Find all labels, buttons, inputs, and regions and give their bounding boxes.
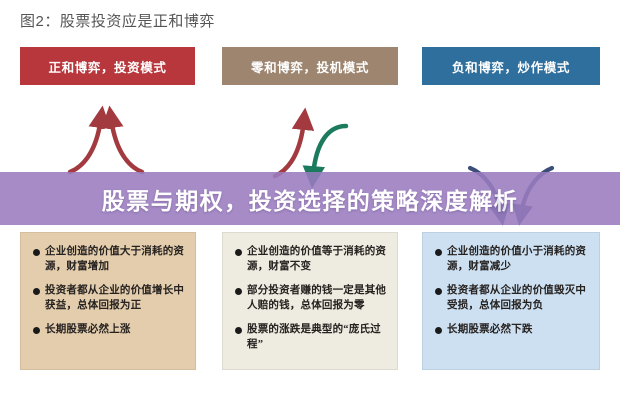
bullet-text: 投资者都从企业的价值毁灭中受损，总体回报为负	[447, 284, 589, 314]
list-item: 企业创造的价值等于消耗的资源，财富不变	[235, 245, 387, 275]
list-item: 长期股票必然下跌	[435, 323, 589, 338]
bullet-text: 部分投资者赚的钱一定是其他人赔的钱，总体回报为零	[247, 284, 387, 314]
figure-caption: 图2：股票投资应是正和博弈	[20, 10, 215, 31]
bullet-dot-icon	[235, 249, 242, 256]
figure-root: 图2：股票投资应是正和博弈 正和博弈，投资模式 零和博弈，投机模式 负和博弈，炒…	[0, 0, 620, 400]
bullet-dot-icon	[435, 327, 442, 334]
bullet-dot-icon	[435, 249, 442, 256]
bullet-text: 长期股票必然下跌	[447, 323, 533, 338]
bullet-text: 企业创造的价值小于消耗的资源，财富减少	[447, 245, 589, 275]
mode-header-label: 零和博弈，投机模式	[251, 57, 369, 76]
list-item: 长期股票必然上涨	[33, 323, 185, 338]
bullet-text: 长期股票必然上涨	[45, 323, 131, 338]
bullet-text: 股票的涨跌是典型的“庞氏过程”	[247, 323, 387, 353]
list-item: 投资者都从企业的价值毁灭中受损，总体回报为负	[435, 284, 589, 314]
bullet-text: 企业创造的价值大于消耗的资源，财富增加	[45, 245, 185, 275]
detail-panel-positive-sum: 企业创造的价值大于消耗的资源，财富增加 投资者都从企业的价值增长中获益，总体回报…	[20, 232, 196, 370]
mode-header-negative-sum[interactable]: 负和博弈，炒作模式	[422, 47, 600, 85]
bullet-text: 企业创造的价值等于消耗的资源，财富不变	[247, 245, 387, 275]
list-item: 部分投资者赚的钱一定是其他人赔的钱，总体回报为零	[235, 284, 387, 314]
arrow-up-icon	[70, 118, 101, 172]
detail-panel-zero-sum: 企业创造的价值等于消耗的资源，财富不变 部分投资者赚的钱一定是其他人赔的钱，总体…	[222, 232, 398, 370]
list-item: 投资者都从企业的价值增长中获益，总体回报为正	[33, 284, 185, 314]
mode-header-label: 正和博弈，投资模式	[49, 57, 167, 76]
overlay-title-text: 股票与期权，投资选择的策略深度解析	[102, 182, 519, 216]
list-item: 企业创造的价值大于消耗的资源，财富增加	[33, 245, 185, 275]
overlay-title-banner: 股票与期权，投资选择的策略深度解析	[0, 172, 620, 225]
arrow-down-icon	[313, 126, 346, 176]
bullet-dot-icon	[235, 327, 242, 334]
bullet-dot-icon	[235, 288, 242, 295]
bullet-text: 投资者都从企业的价值增长中获益，总体回报为正	[45, 284, 185, 314]
arrow-group-zero-sum	[275, 120, 346, 176]
mode-header-zero-sum[interactable]: 零和博弈，投机模式	[222, 47, 398, 85]
arrow-up-icon	[275, 120, 304, 176]
list-item: 企业创造的价值小于消耗的资源，财富减少	[435, 245, 589, 275]
bullet-dot-icon	[33, 249, 40, 256]
list-item: 股票的涨跌是典型的“庞氏过程”	[235, 323, 387, 353]
mode-header-label: 负和博弈，炒作模式	[452, 57, 570, 76]
bullet-dot-icon	[33, 327, 40, 334]
mode-header-positive-sum[interactable]: 正和博弈，投资模式	[20, 47, 195, 85]
detail-panel-negative-sum: 企业创造的价值小于消耗的资源，财富减少 投资者都从企业的价值毁灭中受损，总体回报…	[422, 232, 600, 370]
arrow-group-positive-sum	[70, 118, 142, 172]
bullet-dot-icon	[33, 288, 40, 295]
arrow-up-icon	[111, 118, 142, 172]
bullet-dot-icon	[435, 288, 442, 295]
